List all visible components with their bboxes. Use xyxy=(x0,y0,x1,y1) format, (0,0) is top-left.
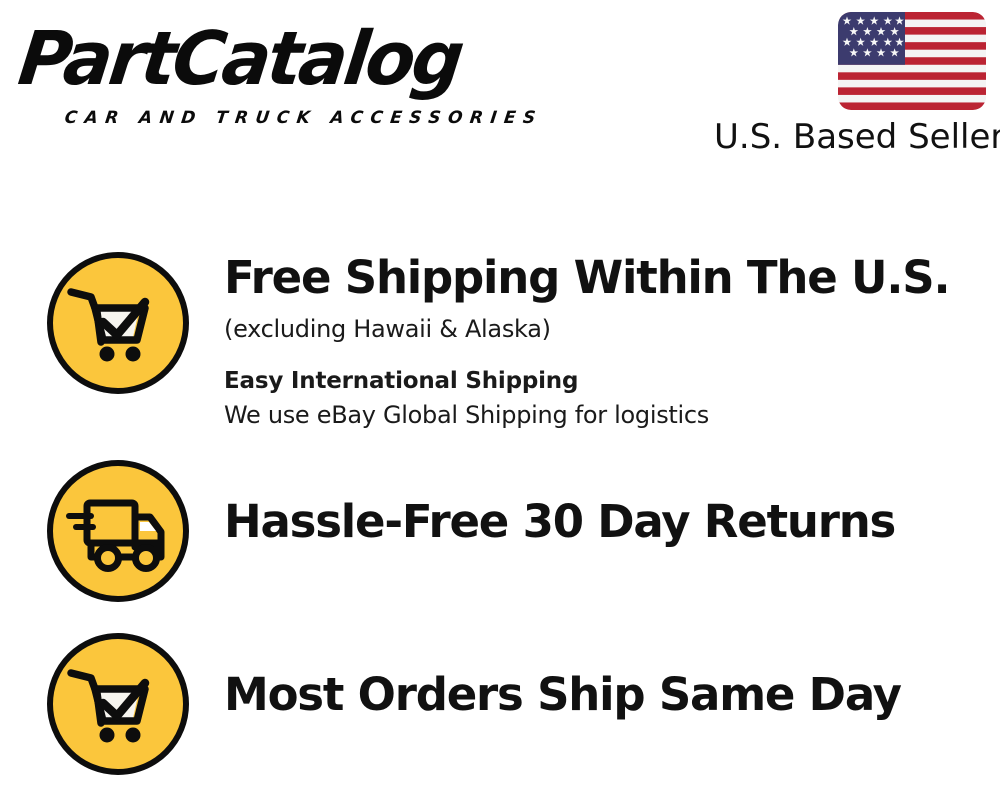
feature-list: Free Shipping Within The U.S. (excluding… xyxy=(0,236,1000,777)
feature-subtext-exclusions: (excluding Hawaii & Alaska) xyxy=(224,312,1000,346)
feature-row-free-shipping: Free Shipping Within The U.S. (excluding… xyxy=(0,250,1000,432)
feature-heading: Hassle-Free 30 Day Returns xyxy=(224,460,1000,548)
promo-banner: PartCatalog CAR AND TRUCK ACCESSORIES xyxy=(0,0,1000,800)
delivery-truck-icon xyxy=(45,458,191,604)
brand-tagline: CAR AND TRUCK ACCESSORIES xyxy=(64,108,544,128)
feature-row-returns: Hassle-Free 30 Day Returns xyxy=(0,458,1000,604)
feature-row-same-day: Most Orders Ship Same Day xyxy=(0,631,1000,777)
brand-wordmark: PartCatalog xyxy=(15,22,465,96)
feature-text-free-shipping: Free Shipping Within The U.S. (excluding… xyxy=(191,250,1000,432)
brand-logo: PartCatalog CAR AND TRUCK ACCESSORIES xyxy=(24,22,494,122)
us-flag-icon xyxy=(838,12,986,110)
feature-subtext-logistics: We use eBay Global Shipping for logistic… xyxy=(224,398,1000,432)
feature-subtext-international: Easy International Shipping xyxy=(224,364,1000,398)
feature-text-same-day: Most Orders Ship Same Day xyxy=(191,631,1000,721)
us-based-seller-label: U.S. Based Seller xyxy=(714,117,986,157)
shopping-cart-check-icon xyxy=(45,631,191,777)
feature-heading: Free Shipping Within The U.S. xyxy=(224,252,1000,304)
shopping-cart-check-icon xyxy=(45,250,191,396)
us-based-seller-badge: U.S. Based Seller xyxy=(714,12,986,157)
feature-text-returns: Hassle-Free 30 Day Returns xyxy=(191,458,1000,548)
feature-heading: Most Orders Ship Same Day xyxy=(224,633,1000,721)
